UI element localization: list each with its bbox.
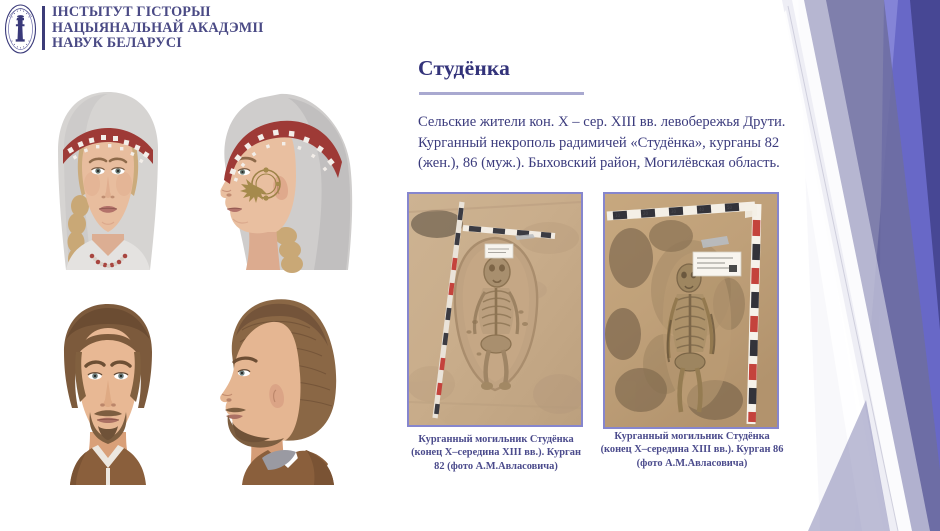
female-reconstruction-profile	[202, 84, 362, 282]
title-underline-rule	[419, 92, 584, 95]
description-paragraph: Сельские жители кон. X – сер. XIII вв. л…	[418, 112, 810, 174]
photo-caption-kurgan-82: Курганный могильник Студёнка (конец X–се…	[405, 433, 587, 473]
institute-header: ІНСТЫТУТ ГІСТОРЫІ НАЦЫЯНАЛЬНАЙ АКАДЭМІІ …	[0, 0, 264, 55]
svg-text:10: 10	[615, 213, 621, 218]
facial-reconstructions-group	[14, 84, 366, 488]
excavation-photo-kurgan-86: 1020 3040 50	[603, 192, 779, 429]
svg-text:40: 40	[699, 207, 705, 212]
page-title: Студёнка	[418, 56, 510, 81]
institute-name-line-3: НАВУК БЕЛАРУСІ	[52, 36, 264, 52]
header-divider	[42, 6, 45, 50]
male-reconstruction-frontal	[32, 290, 184, 485]
svg-text:50: 50	[727, 205, 733, 210]
svg-text:20: 20	[643, 211, 649, 216]
female-reconstruction-frontal	[32, 84, 184, 282]
slide-canvas: ІНСТЫТУТ ГІСТОРЫІ НАЦЫЯНАЛЬНАЙ АКАДЭМІІ …	[0, 0, 940, 531]
male-reconstruction-profile	[202, 290, 362, 485]
excavation-photo-kurgan-82	[407, 192, 583, 427]
institute-logo-icon	[4, 3, 37, 55]
photo-caption-kurgan-86: Курганный могильник Студёнка (конец X–се…	[600, 430, 784, 470]
institute-name-line-1: ІНСТЫТУТ ГІСТОРЫІ	[52, 5, 264, 21]
institute-name-line-2: НАЦЫЯНАЛЬНАЙ АКАДЭМІІ	[52, 21, 264, 37]
svg-text:30: 30	[671, 209, 677, 214]
institute-name: ІНСТЫТУТ ГІСТОРЫІ НАЦЫЯНАЛЬНАЙ АКАДЭМІІ …	[52, 5, 264, 52]
decorative-geometric-panel	[780, 0, 940, 531]
